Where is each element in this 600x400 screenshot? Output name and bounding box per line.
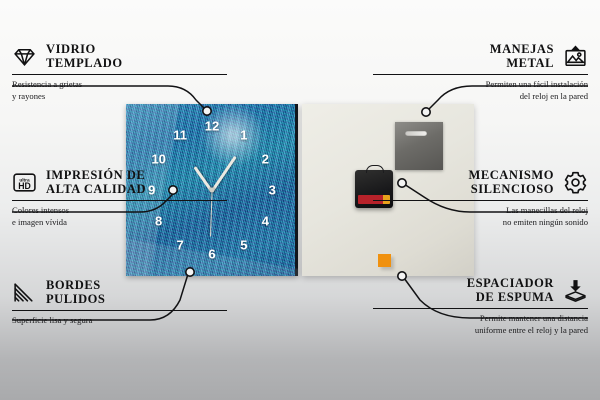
infographic-canvas: 12 1 2 3 4 5 6 7 8 9 10 11 — [0, 0, 600, 400]
picture-hanger-icon — [563, 44, 588, 69]
title-line-1: ESPACIADOR — [467, 276, 554, 290]
clock-number-1: 1 — [240, 128, 247, 141]
clock-number-7: 7 — [177, 239, 184, 252]
feature-divider — [373, 200, 588, 201]
feature-heading: VIDRIO TEMPLADO — [12, 42, 227, 70]
ultra-hd-icon: ultra HD — [12, 170, 37, 195]
feature-vidrio-templado: VIDRIO TEMPLADO Resistencia a grietas y … — [12, 42, 227, 102]
svg-text:HD: HD — [18, 181, 31, 191]
foam-spacer-icon — [563, 278, 588, 303]
clock-number-11: 11 — [173, 128, 187, 141]
clock-number-10: 10 — [151, 153, 165, 166]
title-line-1: IMPRESIÓN DE — [46, 168, 146, 182]
desc-line-1: Permite mantener una distancia — [373, 313, 588, 324]
title-line-1: MECANISMO — [468, 168, 554, 182]
title-line-2: PULIDOS — [46, 292, 105, 306]
feature-title: MANEJAS METAL — [490, 42, 554, 70]
title-line-1: BORDES — [46, 278, 105, 292]
desc-line-1: Las manecillas del reloj — [373, 205, 588, 216]
feature-divider — [12, 74, 227, 75]
desc-line-2: uniforme entre el reloj y la pared — [373, 325, 588, 336]
feature-description: Resistencia a grietas y rayones — [12, 79, 227, 102]
feature-title: MECANISMO SILENCIOSO — [468, 168, 554, 196]
title-line-2: METAL — [490, 56, 554, 70]
feature-divider — [12, 310, 227, 311]
clock-number-2: 2 — [262, 153, 269, 166]
feature-heading: BORDES PULIDOS — [12, 278, 227, 306]
feature-heading: MANEJAS METAL — [373, 42, 588, 70]
title-line-2: SILENCIOSO — [468, 182, 554, 196]
feature-title: IMPRESIÓN DE ALTA CALIDAD — [46, 168, 146, 196]
foam-spacer — [378, 254, 391, 267]
metal-hanger-plate — [395, 122, 443, 170]
feature-description: Permiten una fácil instalación del reloj… — [373, 79, 588, 102]
feature-title: BORDES PULIDOS — [46, 278, 105, 306]
feature-heading: MECANISMO SILENCIOSO — [373, 168, 588, 196]
clock-number-12: 12 — [205, 120, 219, 133]
desc-line-1: Colores intensos — [12, 205, 227, 216]
feature-heading: ESPACIADOR DE ESPUMA — [373, 276, 588, 304]
feature-bordes-pulidos: BORDES PULIDOS Superficie lisa y segura — [12, 278, 227, 327]
desc-line-1: Superficie lisa y segura — [12, 315, 227, 326]
title-line-1: VIDRIO — [46, 42, 123, 56]
feature-mecanismo-silencioso: MECANISMO SILENCIOSO Las manecillas del … — [373, 168, 588, 228]
feature-description: Las manecillas del reloj no emiten ningú… — [373, 205, 588, 228]
feature-title: ESPACIADOR DE ESPUMA — [467, 276, 554, 304]
title-line-2: TEMPLADO — [46, 56, 123, 70]
feature-description: Colores intensos e imagen vívida — [12, 205, 227, 228]
gear-icon — [563, 170, 588, 195]
desc-line-2: no emiten ningún sonido — [373, 217, 588, 228]
feature-impresion-alta-calidad: ultra HD IMPRESIÓN DE ALTA CALIDAD Color… — [12, 168, 227, 228]
desc-line-2: y rayones — [12, 91, 227, 102]
feature-description: Permite mantener una distancia uniforme … — [373, 313, 588, 336]
desc-line-1: Permiten una fácil instalación — [373, 79, 588, 90]
title-line-2: DE ESPUMA — [467, 290, 554, 304]
feature-divider — [373, 308, 588, 309]
feature-description: Superficie lisa y segura — [12, 315, 227, 326]
feature-manejas-metal: MANEJAS METAL Permiten una fácil instala… — [373, 42, 588, 102]
feature-espaciador-espuma: ESPACIADOR DE ESPUMA Permite mantener un… — [373, 276, 588, 336]
clock-number-5: 5 — [240, 239, 247, 252]
desc-line-1: Resistencia a grietas — [12, 79, 227, 90]
clock-number-6: 6 — [208, 247, 215, 260]
title-line-2: ALTA CALIDAD — [46, 182, 146, 196]
feature-divider — [12, 200, 227, 201]
polished-edges-icon — [12, 280, 37, 305]
clock-number-4: 4 — [262, 214, 269, 227]
desc-line-2: del reloj en la pared — [373, 91, 588, 102]
desc-line-2: e imagen vívida — [12, 217, 227, 228]
title-line-1: MANEJAS — [490, 42, 554, 56]
feature-divider — [373, 74, 588, 75]
feature-title: VIDRIO TEMPLADO — [46, 42, 123, 70]
diamond-icon — [12, 44, 37, 69]
clock-number-3: 3 — [269, 184, 276, 197]
feature-heading: ultra HD IMPRESIÓN DE ALTA CALIDAD — [12, 168, 227, 196]
